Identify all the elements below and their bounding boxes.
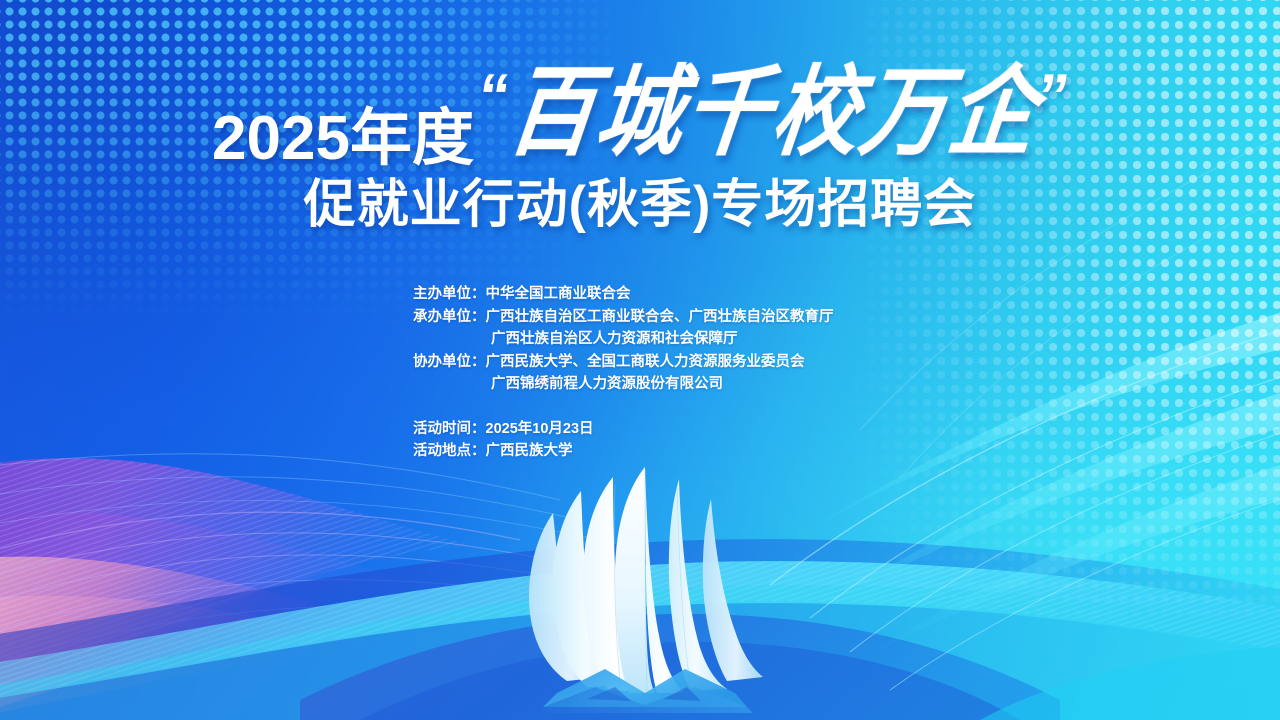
co-organizer-line-1: 承办单位：广西壮族自治区工商业联合会、广西壮族自治区教育厅: [413, 306, 834, 329]
supporter-line-2: 广西锦绣前程人力资源股份有限公司: [413, 373, 834, 396]
info-spacer: [413, 396, 834, 418]
poster-title: 2025年度 “ 百城千校万企 ”: [0, 76, 1280, 162]
poster-content: 2025年度 “ 百城千校万企 ” 促就业行动(秋季)专场招聘会 主办单位：中华…: [0, 0, 1280, 720]
title-brush-group: “ 百城千校万企 ”: [478, 70, 1068, 156]
title-brush-phrase: 百城千校万企: [503, 64, 1043, 162]
organizer-line: 主办单位：中华全国工商业联合会: [413, 283, 834, 306]
co-organizer-line-2: 广西壮族自治区人力资源和社会保障厅: [413, 328, 834, 351]
supporter-line-1: 协办单位：广西民族大学、全国工商联人力资源服务业委员会: [413, 351, 834, 374]
poster-subtitle: 促就业行动(秋季)专场招聘会: [0, 176, 1280, 234]
event-place-line: 活动地点：广西民族大学: [413, 440, 834, 463]
event-info-block: 主办单位：中华全国工商业联合会 承办单位：广西壮族自治区工商业联合会、广西壮族自…: [413, 283, 834, 463]
event-time-line: 活动时间：2025年10月23日: [413, 418, 834, 441]
event-poster: 2025年度 “ 百城千校万企 ” 促就业行动(秋季)专场招聘会 主办单位：中华…: [0, 0, 1280, 720]
title-year: 2025年度: [212, 108, 474, 170]
